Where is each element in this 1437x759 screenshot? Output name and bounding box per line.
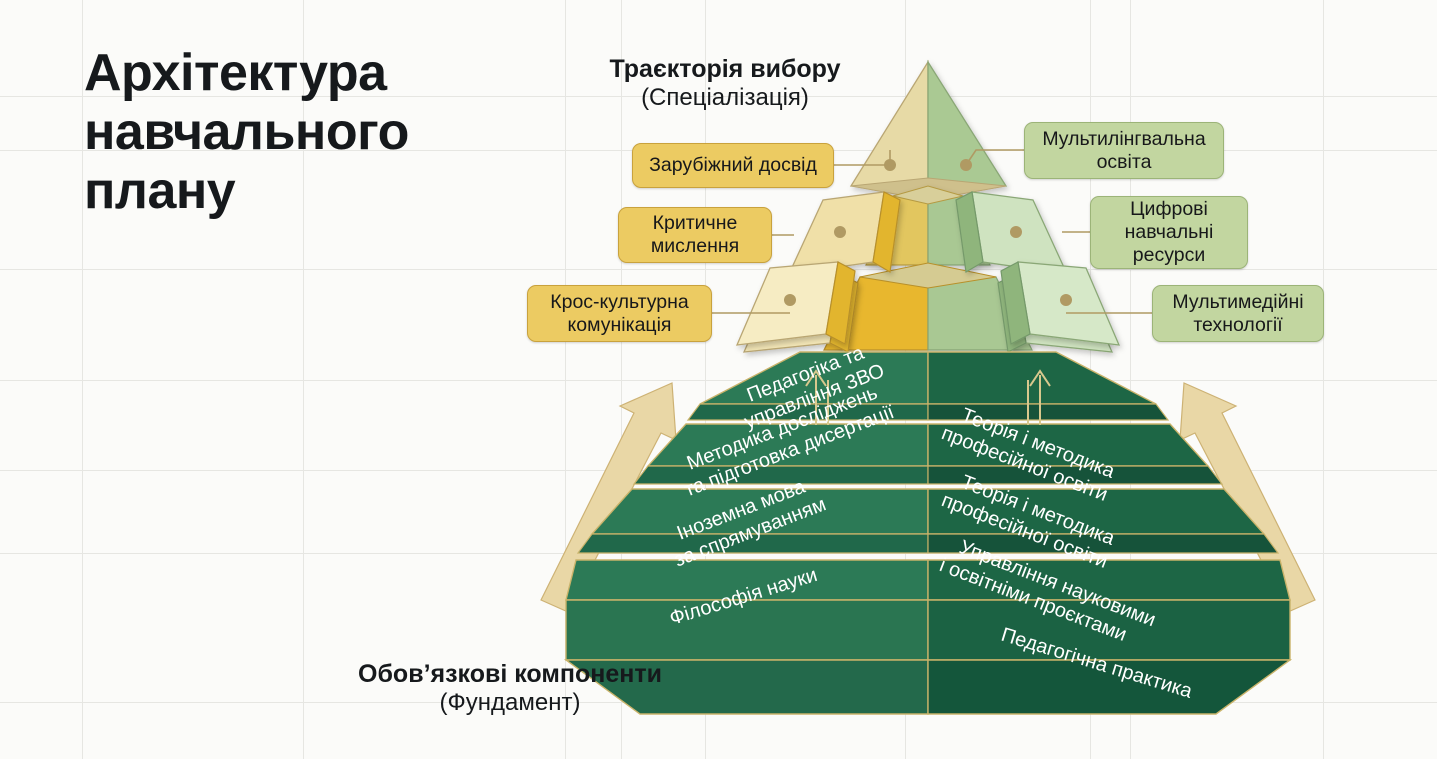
bottom-caption-subheading: (Фундамент): [300, 689, 720, 717]
top-caption: Траєкторія вибору (Спеціалізація): [560, 55, 890, 112]
bottom-caption-heading: Обов’язкові компоненти: [300, 660, 720, 689]
bottom-caption: Обов’язкові компоненти (Фундамент): [300, 660, 720, 717]
infographic-canvas: Педагогіка та управління ЗВО Теорія і ме…: [0, 0, 1437, 759]
elective-block-multilingual: [956, 192, 1067, 274]
label-multilingual-education-text: Мультилінгвальна освіта: [1035, 128, 1213, 174]
top-caption-subheading: (Спеціалізація): [560, 84, 890, 112]
page-title-line-1: Архітектура: [84, 44, 504, 103]
top-caption-heading: Траєкторія вибору: [560, 55, 890, 84]
label-multimedia-technologies[interactable]: Мультимедійні технології: [1152, 285, 1324, 342]
label-multimedia-technologies-text: Мультимедійні технології: [1163, 291, 1313, 337]
label-digital-learning-resources-text: Цифрові навчальні ресурси: [1101, 198, 1237, 267]
elective-block-lower-left: [737, 262, 855, 345]
page-title: Архітектура навчального плану: [84, 44, 504, 220]
label-critical-thinking-text: Критичне мислення: [629, 212, 761, 258]
page-title-line-3: плану: [84, 162, 504, 221]
label-multilingual-education[interactable]: Мультилінгвальна освіта: [1024, 122, 1224, 179]
label-cross-cultural-communication-text: Крос-культурна комунікація: [538, 291, 701, 337]
elective-block-lower-right: [1001, 262, 1119, 345]
label-cross-cultural-communication[interactable]: Крос-культурна комунікація: [527, 285, 712, 342]
label-critical-thinking[interactable]: Критичне мислення: [618, 207, 772, 263]
label-foreign-experience-text: Зарубіжний досвід: [649, 154, 817, 177]
page-title-line-2: навчального: [84, 103, 504, 162]
label-digital-learning-resources[interactable]: Цифрові навчальні ресурси: [1090, 196, 1248, 269]
elective-block-foreign-experience: [789, 192, 900, 274]
label-foreign-experience[interactable]: Зарубіжний досвід: [632, 143, 834, 188]
